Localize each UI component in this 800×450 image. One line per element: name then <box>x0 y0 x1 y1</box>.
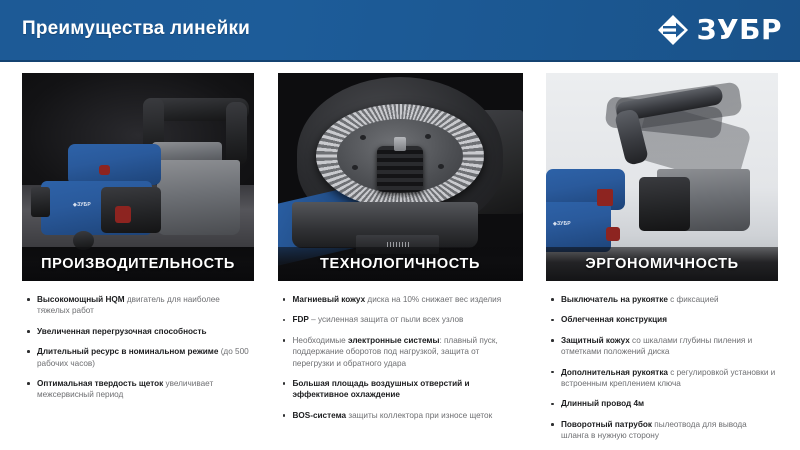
disc-hub-nut <box>377 146 423 192</box>
tool-red-button <box>115 206 131 223</box>
zubr-diamond-arrow-logo <box>656 13 690 47</box>
tool-motor-housing <box>546 202 611 252</box>
bullet-item: Выключатель на рукоятке с фиксацией <box>550 294 776 305</box>
card-title-bar-performance: ПРОИЗВОДИТЕЛЬНОСТЬ <box>22 247 254 281</box>
bullet-item: Длинный провод 4м <box>550 398 776 409</box>
tool-front-gearbox <box>101 187 161 233</box>
tool-main-handle <box>68 144 161 186</box>
disc-hole <box>352 165 358 170</box>
bullet-item: Высокомощный HQM двигатель для наиболее … <box>26 294 252 317</box>
bullet-bold: BOS-система <box>293 411 347 420</box>
card-title-ergonomics: ЭРГОНОМИЧНОСТЬ <box>585 256 738 272</box>
bullet-bold: Увеличенная перегрузочная способность <box>37 327 207 336</box>
bullet-bold: Облегченная конструкция <box>561 315 667 324</box>
card-title-performance: ПРОИЗВОДИТЕЛЬНОСТЬ <box>41 256 235 272</box>
tool-gearbox <box>639 177 690 231</box>
tool-handle-arm-2 <box>226 102 247 164</box>
page-header: Преимущества линейки ЗУБР <box>0 0 800 62</box>
bullet-bold: Защитный кожух <box>561 336 630 345</box>
card-photo-technology: ТЕХНОЛОГИЧНОСТЬ <box>278 73 523 281</box>
bullet-list-ergonomics: Выключатель на рукоятке с фиксацией Обле… <box>546 281 778 442</box>
bullet-item: BOS-система защиты коллектора при износе… <box>282 410 521 421</box>
disc-bolt <box>394 137 406 151</box>
feature-cards: ◈ЗУБР ПРОИЗВОДИТЕЛЬНОСТЬ Высокомощный HQ… <box>0 73 800 433</box>
tool-brand-chip: ◈ЗУБР <box>73 202 91 208</box>
bullet-bold: Выключатель на рукоятке <box>561 295 668 304</box>
disc-hole <box>425 134 431 139</box>
bullet-item: Необходимые электронные системы: плавный… <box>282 335 521 369</box>
bullet-bold: Длительный ресурс в номинальном режиме <box>37 347 218 356</box>
bullet-bold: электронные системы <box>348 336 439 345</box>
bullet-bold: Большая площадь воздушных отверстий и эф… <box>293 379 470 399</box>
bullet-item: Поворотный патрубок пылеотвода для вывод… <box>550 419 776 442</box>
feature-card-performance: ◈ЗУБР ПРОИЗВОДИТЕЛЬНОСТЬ Высокомощный HQ… <box>22 73 254 433</box>
bullet-item: Длительный ресурс в номинальном режиме (… <box>26 346 252 369</box>
tool-red-button <box>606 227 620 242</box>
page-title: Преимущества линейки <box>22 18 250 40</box>
bullet-bold: Высокомощный HQM <box>37 295 125 304</box>
bullet-bold: FDP <box>293 315 309 324</box>
bullet-item: Большая площадь воздушных отверстий и эф… <box>282 378 521 401</box>
bullet-rest: диска на 10% снижает вес изделия <box>365 295 501 304</box>
bullet-bold: Дополнительная рукоятка <box>561 368 668 377</box>
bullet-bold: Оптимальная твердость щеток <box>37 379 163 388</box>
tool-trigger-lock <box>99 165 111 175</box>
brand-name: ЗУБР <box>697 13 782 47</box>
card-photo-ergonomics: ◈ЗУБР ЭРГОНОМИЧНОСТЬ <box>546 73 778 281</box>
tool-cord-guard <box>31 187 50 216</box>
bullet-rest: защиты коллектора при износе щеток <box>346 411 492 420</box>
bullet-item: Оптимальная твердость щеток увеличивает … <box>26 378 252 401</box>
feature-card-technology: ТЕХНОЛОГИЧНОСТЬ Магниевый кожух диска на… <box>278 73 523 433</box>
card-title-bar-ergonomics: ЭРГОНОМИЧНОСТЬ <box>546 247 778 281</box>
card-photo-performance: ◈ЗУБР ПРОИЗВОДИТЕЛЬНОСТЬ <box>22 73 254 281</box>
feature-card-ergonomics: ◈ЗУБР ЭРГОНОМИЧНОСТЬ Выключатель на руко… <box>546 73 778 433</box>
bullet-item: FDP – усиленная защита от пыли всех узло… <box>282 314 521 325</box>
bullet-item: Защитный кожух со шкалами глубины пилени… <box>550 335 776 358</box>
bullet-rest: с фиксацией <box>668 295 719 304</box>
bullet-bold: Магниевый кожух <box>293 295 366 304</box>
card-title-technology: ТЕХНОЛОГИЧНОСТЬ <box>320 256 480 272</box>
bullet-pre: Необходимые <box>293 336 349 345</box>
disc-hole <box>438 164 444 169</box>
bullet-item: Магниевый кожух диска на 10% снижает вес… <box>282 294 521 305</box>
bullet-item: Облегченная конструкция <box>550 314 776 325</box>
bullet-list-performance: Высокомощный HQM двигатель для наиболее … <box>22 281 254 401</box>
brand-logo: ЗУБР <box>656 13 782 47</box>
bullet-rest: – усиленная защита от пыли всех узлов <box>309 315 463 324</box>
bullet-bold: Длинный провод 4м <box>561 399 644 408</box>
bullet-bold: Поворотный патрубок <box>561 420 652 429</box>
tool-red-accent <box>597 189 613 206</box>
bullet-item: Дополнительная рукоятка с регулировкой у… <box>550 367 776 390</box>
card-title-bar-technology: ТЕХНОЛОГИЧНОСТЬ <box>278 247 523 281</box>
tool-brand-chip: ◈ЗУБР <box>553 221 571 227</box>
disc-hole <box>360 135 366 140</box>
tool-guard <box>157 160 241 235</box>
bullet-list-technology: Магниевый кожух диска на 10% снижает вес… <box>278 281 523 421</box>
bullet-item: Увеличенная перегрузочная способность <box>26 326 252 337</box>
